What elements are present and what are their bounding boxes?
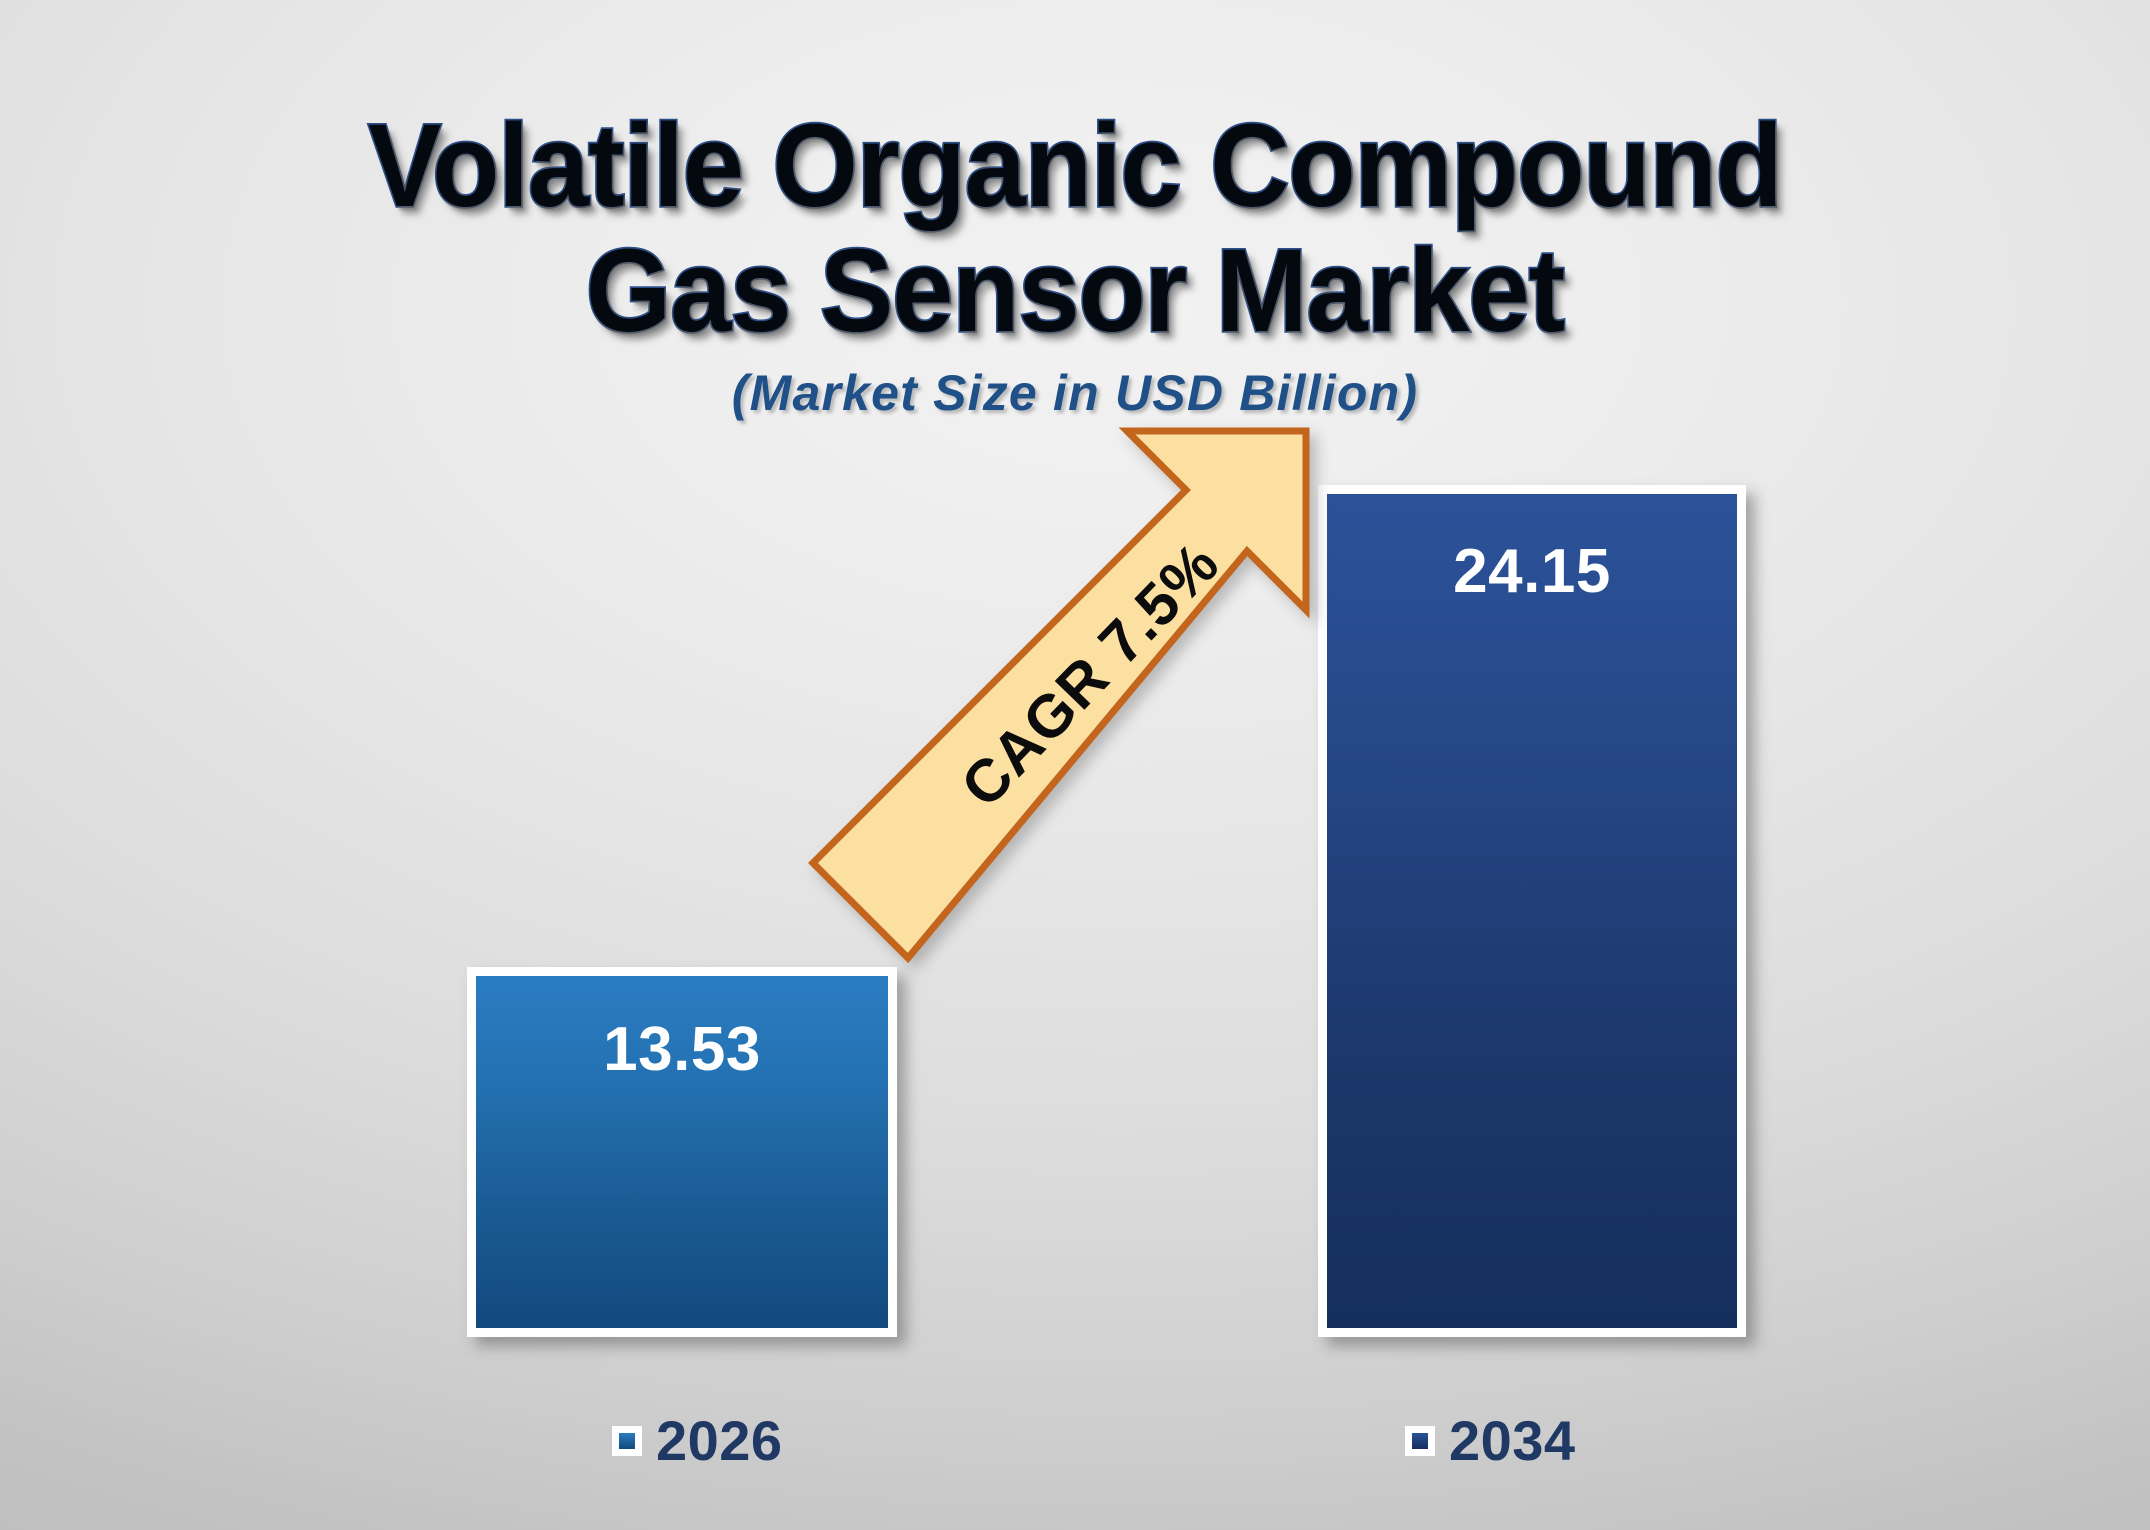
legend-item-2026[interactable]: 2026 bbox=[612, 1408, 783, 1473]
bar-value-label-2034: 24.15 bbox=[1327, 536, 1737, 607]
chart-canvas: Volatile Organic Compound Gas Sensor Mar… bbox=[0, 0, 2150, 1530]
legend-swatch-2034-icon bbox=[1405, 1426, 1435, 1456]
legend-item-2034[interactable]: 2034 bbox=[1405, 1408, 1576, 1473]
plot-area: 13.53 24.15 CAGR 7.5% bbox=[0, 0, 2150, 1530]
legend-swatch-2026-icon bbox=[612, 1426, 642, 1456]
bar-2034[interactable]: 24.15 bbox=[1318, 485, 1746, 1337]
bar-value-label-2026: 13.53 bbox=[476, 1014, 888, 1085]
legend-label-2026: 2026 bbox=[656, 1408, 783, 1473]
legend: 2026 2034 bbox=[0, 1408, 2150, 1488]
bar-2026[interactable]: 13.53 bbox=[467, 967, 897, 1337]
legend-label-2034: 2034 bbox=[1449, 1408, 1576, 1473]
